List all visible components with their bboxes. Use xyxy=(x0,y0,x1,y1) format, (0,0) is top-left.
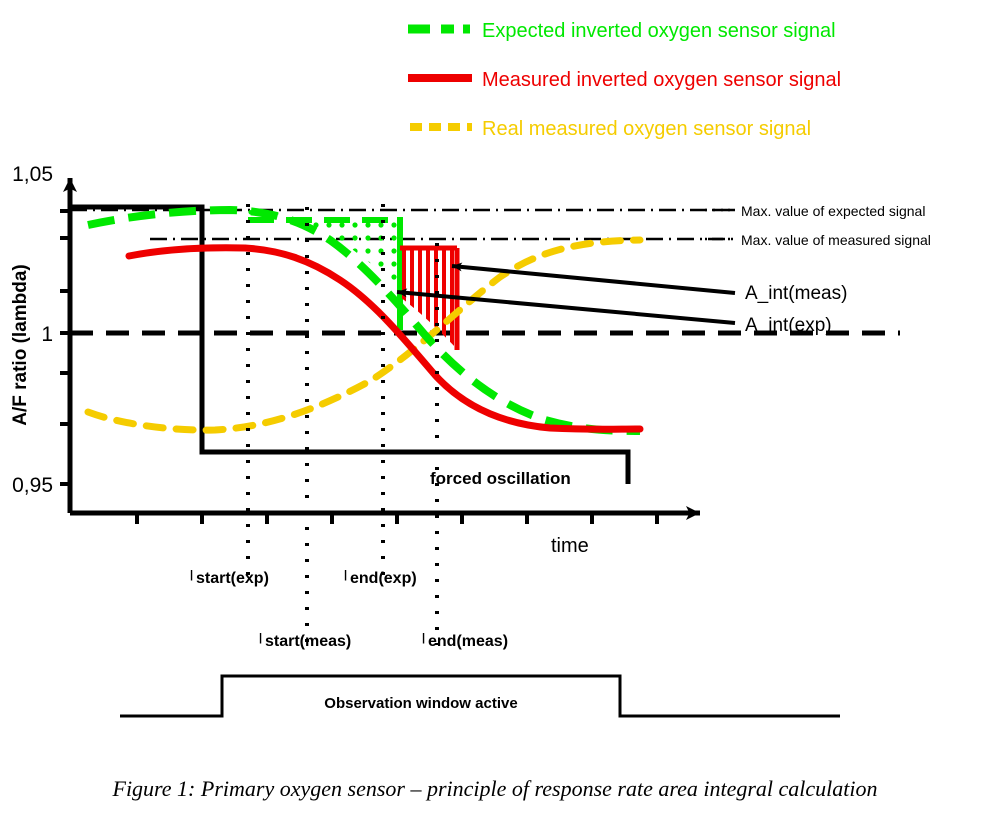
y-tick-label-095: 0,95 xyxy=(12,474,53,497)
legend: Expected inverted oxygen sensor signal M… xyxy=(408,20,841,140)
forced-oscillation-label: forced oscillation xyxy=(430,469,571,488)
marker-label-start-meas: start(meas) xyxy=(265,633,351,650)
marker-label-end-exp: end(exp) xyxy=(350,570,417,587)
observation-window-signal: Observation window active xyxy=(120,676,840,716)
a-int-exp-label: A_int(exp) xyxy=(745,315,832,336)
y-axis-title: A/F ratio (lambda) xyxy=(10,264,31,426)
x-axis-title: time xyxy=(551,535,589,557)
legend-item-expected: Expected inverted oxygen sensor signal xyxy=(408,20,836,42)
legend-label-expected: Expected inverted oxygen sensor signal xyxy=(482,20,836,42)
marker-tick-end-exp: | xyxy=(344,569,347,581)
y-tick-label-105: 1,05 xyxy=(12,163,53,186)
legend-label-real: Real measured oxygen sensor signal xyxy=(482,118,811,140)
legend-label-measured: Measured inverted oxygen sensor signal xyxy=(482,69,841,91)
a-int-meas-label: A_int(meas) xyxy=(745,283,847,304)
marker-label-start-exp: start(exp) xyxy=(196,570,269,587)
legend-item-measured: Measured inverted oxygen sensor signal xyxy=(408,69,841,91)
legend-item-real: Real measured oxygen sensor signal xyxy=(410,118,811,140)
marker-tick-start-exp: | xyxy=(190,569,193,581)
max-measured-label: Max. value of measured signal xyxy=(741,232,931,248)
oxygen-sensor-diagram: Expected inverted oxygen sensor signal M… xyxy=(0,0,990,823)
observation-window-label: Observation window active xyxy=(324,695,517,712)
area-a-int-exp xyxy=(240,205,415,330)
figure-caption: Figure 1: Primary oxygen sensor – princi… xyxy=(0,776,990,802)
marker-tick-start-meas: | xyxy=(259,632,262,644)
marker-label-end-meas: end(meas) xyxy=(428,633,508,650)
figure-root: Expected inverted oxygen sensor signal M… xyxy=(0,0,990,823)
callouts: Max. value of expected signal Max. value… xyxy=(397,203,931,336)
max-expected-label: Max. value of expected signal xyxy=(741,203,925,219)
marker-tick-end-meas: | xyxy=(422,632,425,644)
y-tick-label-1: 1 xyxy=(41,323,53,346)
